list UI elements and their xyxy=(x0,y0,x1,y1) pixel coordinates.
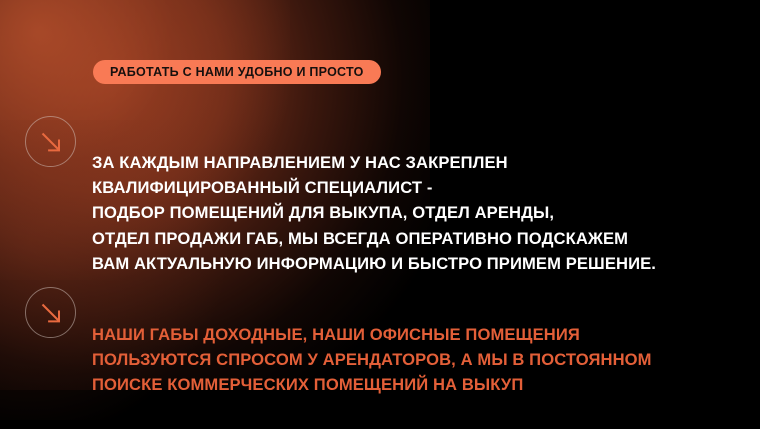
secondary-paragraph: НАШИ ГАБЫ ДОХОДНЫЕ, НАШИ ОФИСНЫЕ ПОМЕЩЕН… xyxy=(92,322,652,398)
paragraph-line: КВАЛИФИЦИРОВАННЫЙ СПЕЦИАЛИСТ - xyxy=(92,175,656,200)
presentation-slide: РАБОТАТЬ С НАМИ УДОБНО И ПРОСТО ЗА КАЖДЫ… xyxy=(0,0,760,429)
paragraph-line: ПОДБОР ПОМЕЩЕНИЙ ДЛЯ ВЫКУПА, ОТДЕЛ АРЕНД… xyxy=(92,200,656,225)
marker-circle-primary xyxy=(25,116,76,167)
paragraph-line: ПОЛЬЗУЮТСЯ СПРОСОМ У АРЕНДАТОРОВ, А МЫ В… xyxy=(92,347,652,372)
section-badge-label: РАБОТАТЬ С НАМИ УДОБНО И ПРОСТО xyxy=(110,66,364,79)
paragraph-line: ВАМ АКТУАЛЬНУЮ ИНФОРМАЦИЮ И БЫСТРО ПРИМЕ… xyxy=(92,251,656,276)
paragraph-line: ЗА КАЖДЫМ НАПРАВЛЕНИЕМ У НАС ЗАКРЕПЛЕН xyxy=(92,150,656,175)
marker-circle-secondary xyxy=(25,287,76,338)
paragraph-line: НАШИ ГАБЫ ДОХОДНЫЕ, НАШИ ОФИСНЫЕ ПОМЕЩЕН… xyxy=(92,322,652,347)
paragraph-line: ПОИСКЕ КОММЕРЧЕСКИХ ПОМЕЩЕНИЙ НА ВЫКУП xyxy=(92,372,652,397)
section-badge: РАБОТАТЬ С НАМИ УДОБНО И ПРОСТО xyxy=(93,60,381,84)
paragraph-line: ОТДЕЛ ПРОДАЖИ ГАБ, МЫ ВСЕГДА ОПЕРАТИВНО … xyxy=(92,226,656,251)
primary-paragraph: ЗА КАЖДЫМ НАПРАВЛЕНИЕМ У НАС ЗАКРЕПЛЕН К… xyxy=(92,150,656,276)
